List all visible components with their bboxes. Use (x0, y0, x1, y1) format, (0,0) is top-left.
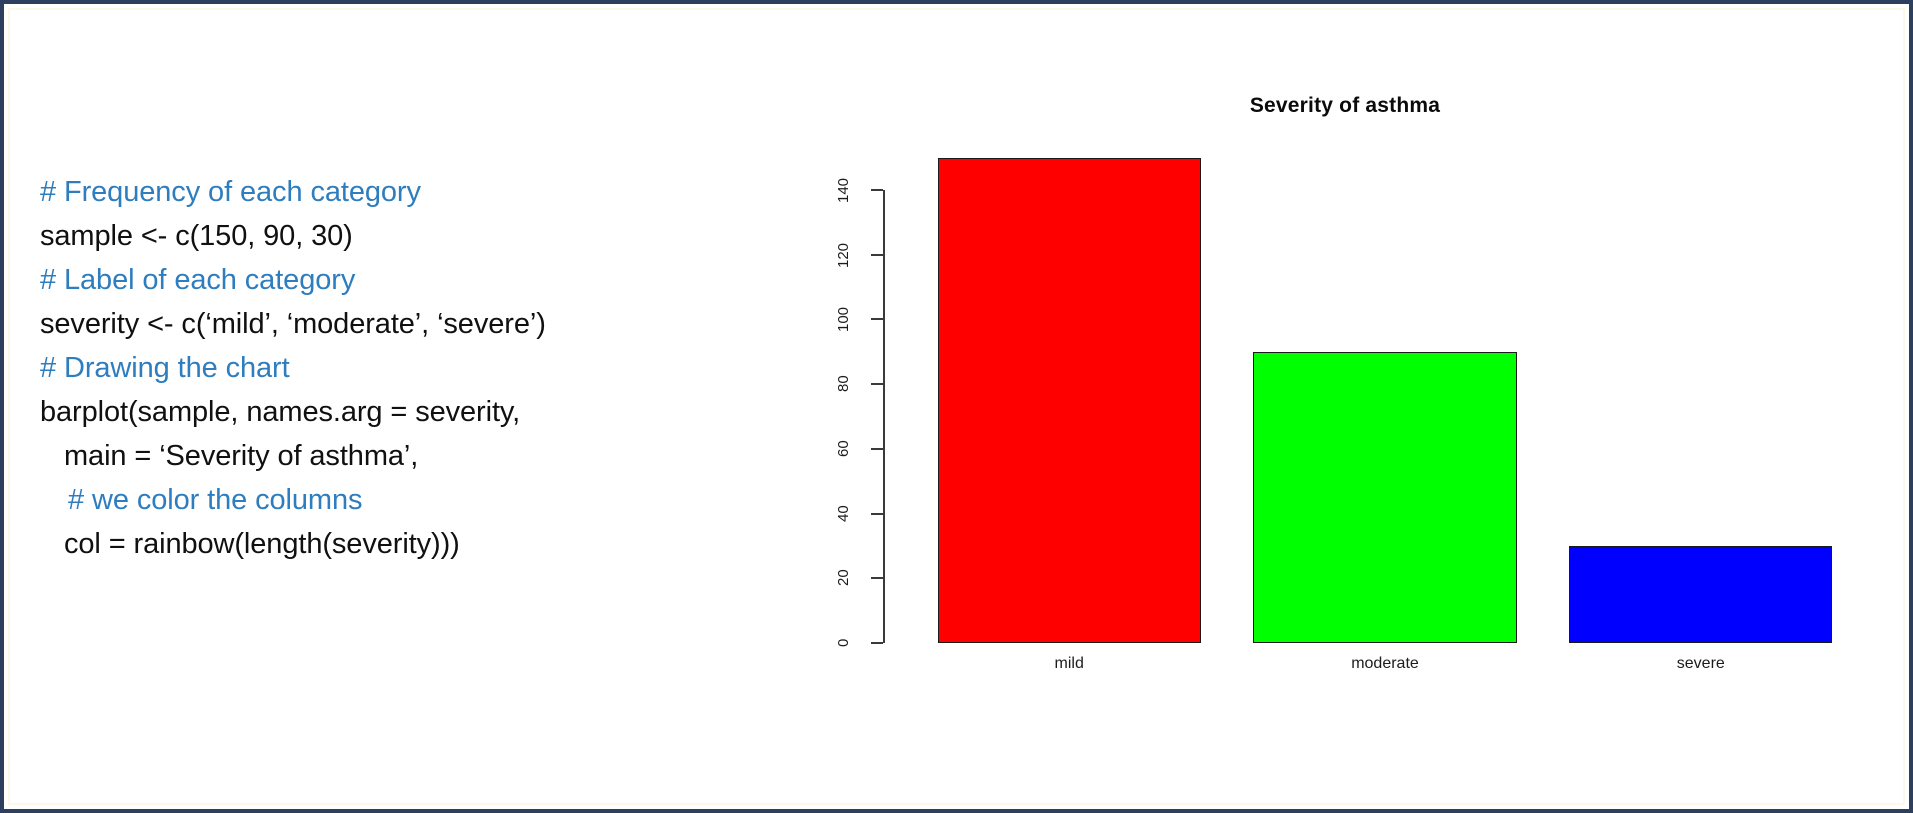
y-axis-tick (871, 577, 883, 579)
code-line: barplot(sample, names.arg = severity, (40, 390, 730, 434)
y-axis-tick (871, 513, 883, 515)
code-line: severity <- c(‘mild’, ‘moderate’, ‘sever… (40, 302, 730, 346)
slide-inner-frame: # Frequency of each categorysample <- c(… (8, 8, 1905, 805)
y-axis-tick (871, 189, 883, 191)
y-axis-tick-label: 40 (836, 492, 851, 536)
y-axis-tick (871, 254, 883, 256)
y-axis-tick (871, 318, 883, 320)
code-line: # Frequency of each category (40, 170, 730, 214)
code-line: # Label of each category (40, 258, 730, 302)
x-axis-label-severe: severe (1569, 655, 1832, 673)
bar-severe (1569, 546, 1832, 643)
bar-moderate (1253, 352, 1516, 643)
barplot-figure: Severity of asthma 020406080100120140 mi… (800, 50, 1890, 730)
y-axis-tick-label: 0 (836, 621, 851, 665)
y-axis-tick (871, 448, 883, 450)
bars-container (885, 190, 1885, 643)
bar-mild (938, 158, 1201, 643)
y-axis-tick-label: 100 (836, 297, 851, 341)
y-axis-tick (871, 642, 883, 644)
plot-area: 020406080100120140 mildmoderatesevere (800, 50, 1890, 730)
y-axis-tick-label: 120 (836, 233, 851, 277)
code-line: # Drawing the chart (40, 346, 730, 390)
code-line: # we color the columns (40, 478, 730, 522)
y-axis-tick-label: 80 (836, 362, 851, 406)
x-axis-label-moderate: moderate (1253, 655, 1516, 673)
y-axis-tick-label: 140 (836, 168, 851, 212)
x-axis-label-mild: mild (938, 655, 1201, 673)
y-axis-tick-label: 20 (836, 556, 851, 600)
code-block: # Frequency of each categorysample <- c(… (40, 170, 730, 566)
y-axis-tick-label: 60 (836, 427, 851, 471)
y-axis-tick (871, 383, 883, 385)
code-line: sample <- c(150, 90, 30) (40, 214, 730, 258)
code-line: main = ‘Severity of asthma’, (40, 434, 730, 478)
code-line: col = rainbow(length(severity))) (40, 522, 730, 566)
slide: # Frequency of each categorysample <- c(… (0, 0, 1913, 813)
